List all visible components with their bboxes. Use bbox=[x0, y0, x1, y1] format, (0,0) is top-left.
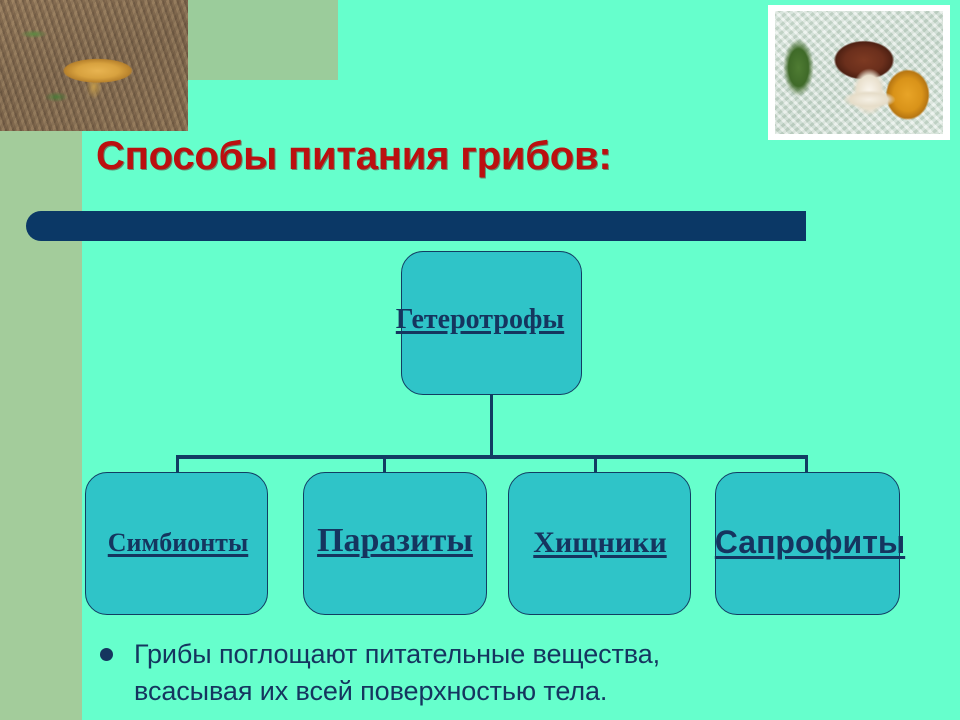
bullet-list: Грибы поглощают питательные вещества, вс… bbox=[100, 636, 900, 711]
connector-horizontal-bus bbox=[176, 455, 808, 459]
bullet-line-1: Грибы поглощают питательные вещества, bbox=[134, 636, 900, 673]
bullet-item-text: Грибы поглощают питательные вещества, вс… bbox=[134, 636, 900, 711]
diagram-node-saprophytes-label: Сапрофиты bbox=[680, 526, 940, 558]
connector-stem bbox=[490, 395, 493, 457]
diagram-node-heterotrophs-label: Гетеротрофы bbox=[0, 306, 960, 334]
feeding-modes-diagram: Гетеротрофы Симбионты Паразиты Хищники С… bbox=[0, 0, 960, 720]
bullet-dot-icon bbox=[100, 648, 113, 661]
slide: Способы питания грибов: Гетеротрофы Симб… bbox=[0, 0, 960, 720]
bullet-line-2: всасывая их всей поверхностью тела. bbox=[134, 673, 900, 710]
